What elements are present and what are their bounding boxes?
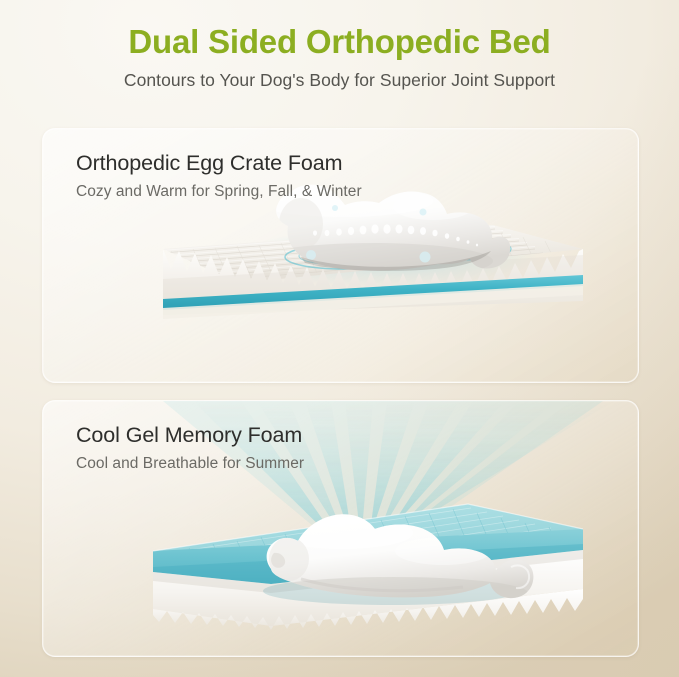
- header: Dual Sided Orthopedic Bed Contours to Yo…: [0, 24, 679, 91]
- card-subtitle: Cool and Breathable for Summer: [76, 455, 304, 474]
- card-title: Orthopedic Egg Crate Foam: [76, 151, 362, 176]
- page-subtitle: Contours to Your Dog's Body for Superior…: [0, 70, 679, 91]
- card-subtitle: Cozy and Warm for Spring, Fall, & Winter: [76, 183, 362, 202]
- infographic-page: Dual Sided Orthopedic Bed Contours to Yo…: [0, 0, 679, 677]
- spine-vertebrae-dots: [313, 224, 478, 246]
- card-header-cool-gel: Cool Gel Memory Foam Cool and Breathable…: [76, 423, 304, 473]
- page-title: Dual Sided Orthopedic Bed: [0, 24, 679, 61]
- card-header-egg-crate: Orthopedic Egg Crate Foam Cozy and Warm …: [76, 151, 362, 201]
- card-title: Cool Gel Memory Foam: [76, 423, 304, 448]
- feature-card-egg-crate: Orthopedic Egg Crate Foam Cozy and Warm …: [42, 128, 639, 383]
- feature-card-cool-gel: Cool Gel Memory Foam Cool and Breathable…: [42, 400, 639, 657]
